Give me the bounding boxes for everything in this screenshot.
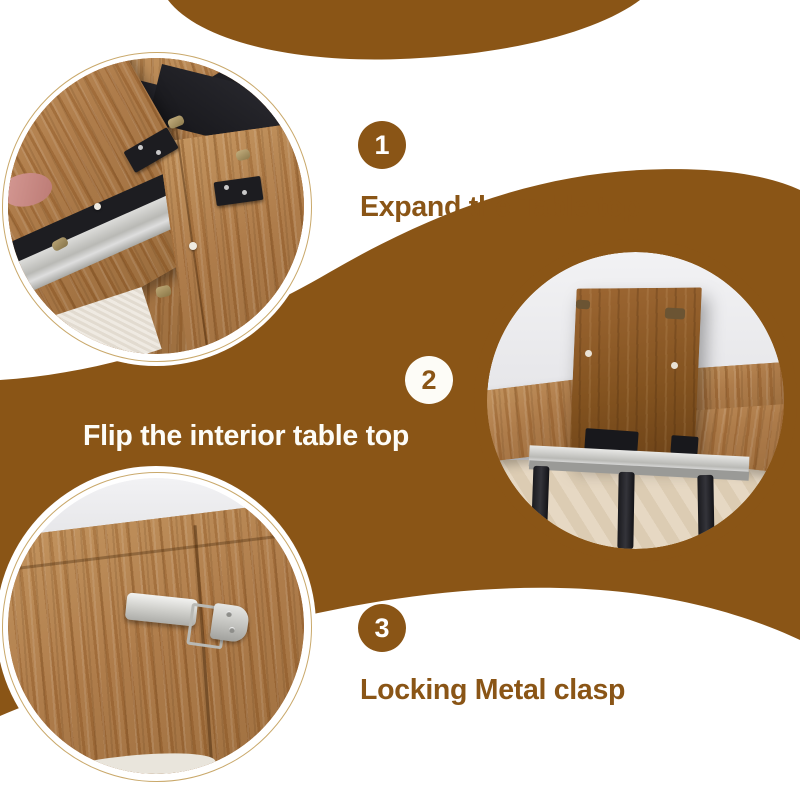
step-2-block: 2 Flip the interior table top xyxy=(83,356,453,453)
step-3-title: Locking Metal clasp xyxy=(360,674,625,707)
leaf-fitting xyxy=(576,299,591,309)
step-2-badge: 2 xyxy=(405,356,453,404)
dowel-hole xyxy=(189,242,197,250)
screw xyxy=(242,190,247,195)
step-3-badge: 3 xyxy=(358,604,406,652)
photo-3-scene xyxy=(8,478,304,774)
leaf-screw xyxy=(671,362,678,369)
table-leg xyxy=(617,472,635,549)
leaf-screw xyxy=(585,350,592,357)
step-2-title: Flip the interior table top xyxy=(83,420,453,453)
step-3-block: 3 Locking Metal clasp xyxy=(358,604,625,707)
photo-2-scene xyxy=(487,252,784,549)
leaf-fitting xyxy=(665,308,686,320)
photo-1-scene xyxy=(8,58,304,354)
photo-step-1 xyxy=(8,58,304,354)
step-1-block: 1 Expand the Table top xyxy=(358,121,640,224)
top-swoosh-shape xyxy=(168,0,640,60)
infographic-canvas: 1 Expand the Table top 2 Flip the interi… xyxy=(0,0,800,800)
screw xyxy=(156,150,161,155)
step-1-title: Expand the Table top xyxy=(360,191,640,224)
table-leg xyxy=(697,475,715,549)
clasp-screw xyxy=(226,611,232,617)
step-1-badge: 1 xyxy=(358,121,406,169)
table-leg xyxy=(530,466,549,549)
photo-step-2 xyxy=(487,252,784,549)
dowel-hole xyxy=(94,203,101,210)
photo-step-3 xyxy=(8,478,304,774)
